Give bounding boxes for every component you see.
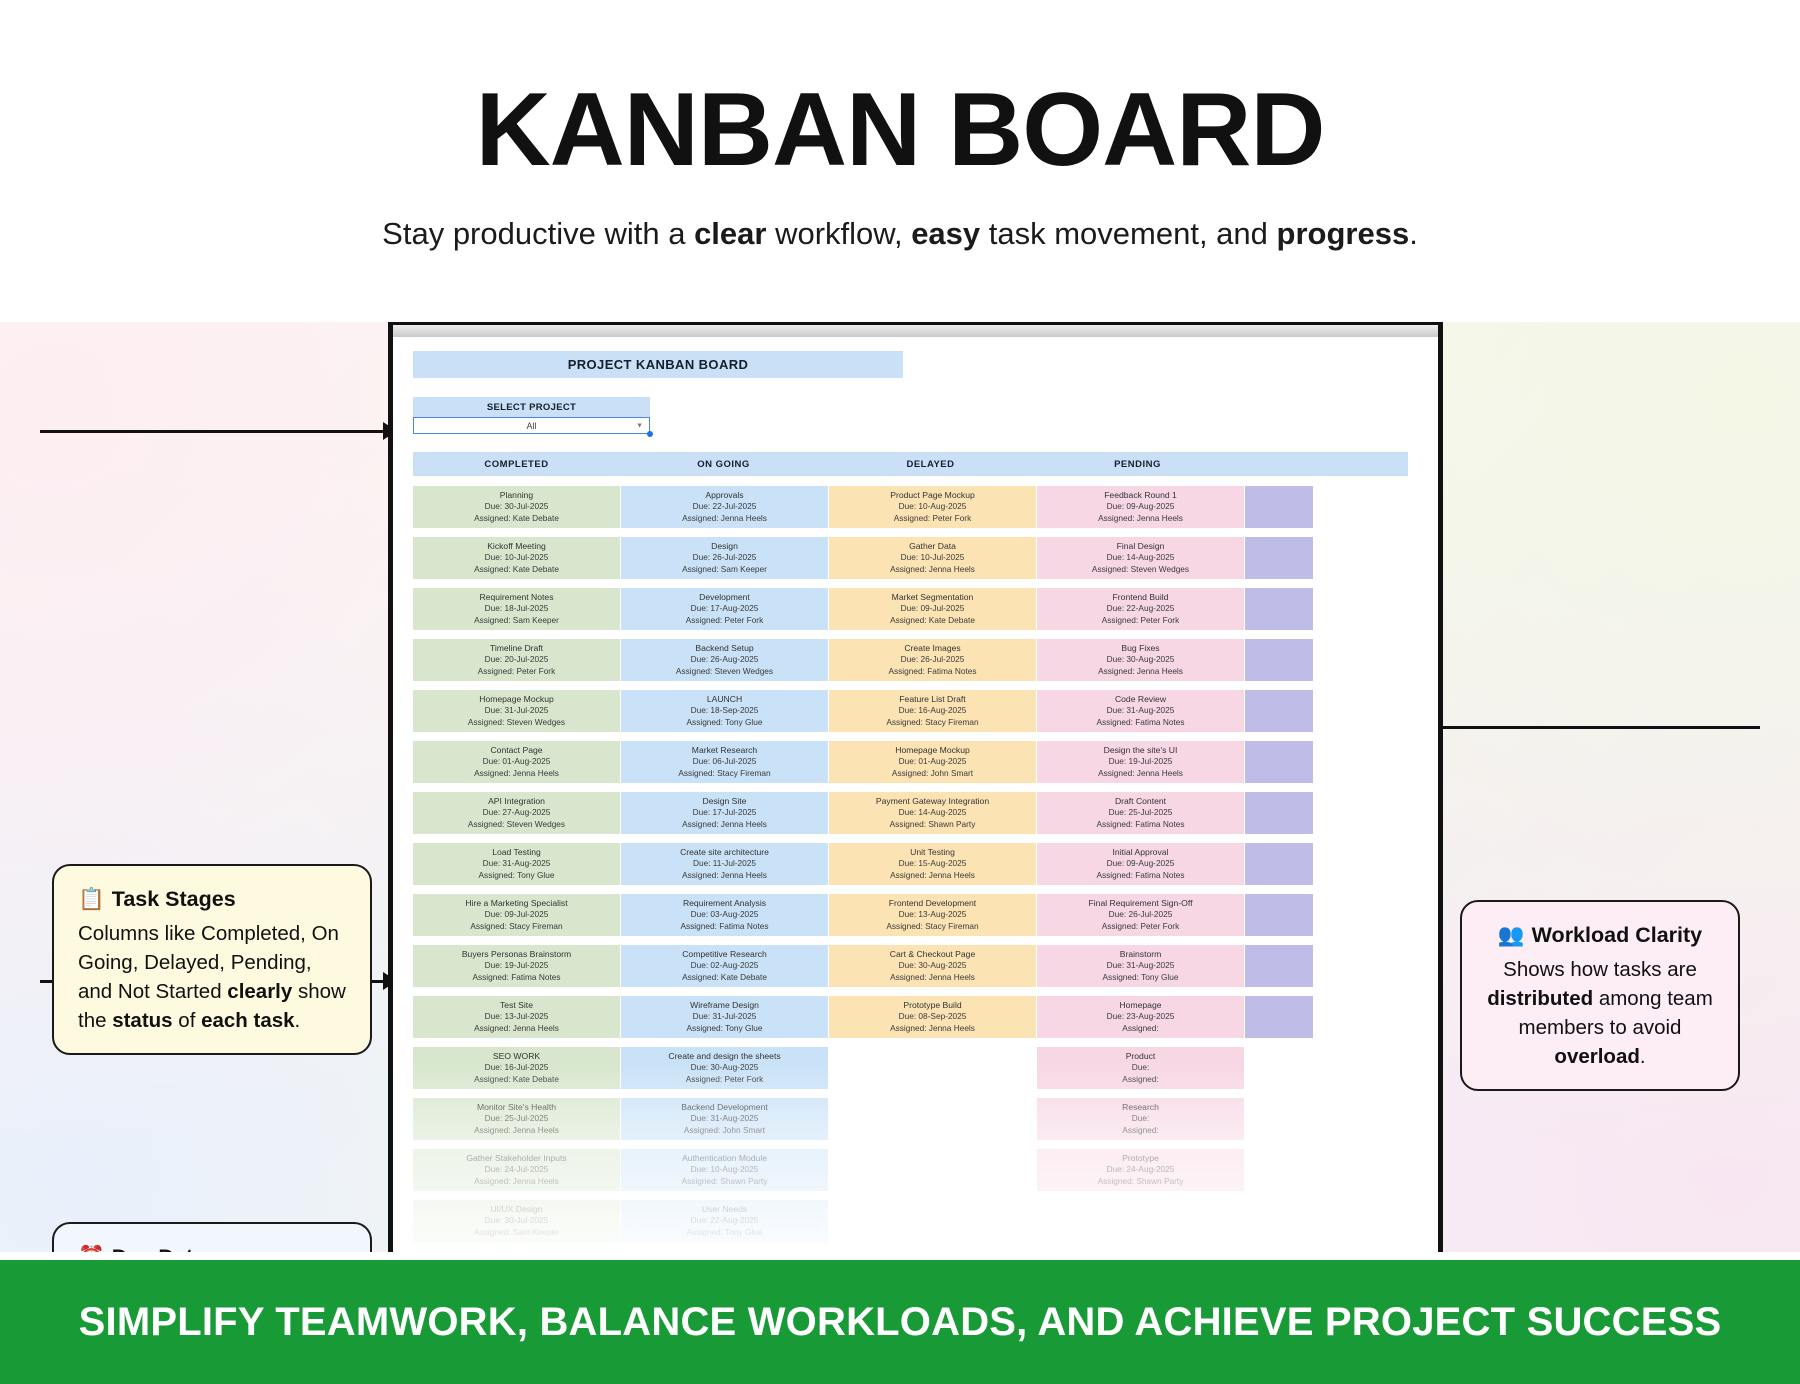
callout-task-stages-title: 📋 Task Stages	[78, 884, 346, 915]
task-assignee: Assigned: Jenna Heels	[890, 1023, 975, 1035]
task-assignee: Assigned: Tony Glue	[687, 1227, 763, 1239]
board-column-headers: COMPLETED ON GOING DELAYED PENDING	[413, 452, 1408, 476]
task-assignee: Assigned: Stacy Fireman	[886, 921, 978, 933]
task-name: Development	[699, 591, 750, 603]
task-assignee: Assigned: Shawn Party	[682, 1176, 768, 1188]
task-card-completed[interactable]: Contact PageDue: 01-Aug-2025Assigned: Je…	[413, 741, 620, 783]
task-name: Cart & Checkout Page	[890, 948, 976, 960]
task-assignee: Assigned: Peter Fork	[894, 513, 971, 525]
task-due-date: Due: 26-Jul-2025	[901, 654, 965, 666]
task-due-date: Due: 31-Aug-2025	[1107, 960, 1175, 972]
column-header-ongoing: ON GOING	[620, 452, 827, 476]
kanban-row: Load TestingDue: 31-Aug-2025Assigned: To…	[413, 843, 1408, 894]
task-name: Design	[711, 540, 738, 552]
task-card-pending[interactable]: Code ReviewDue: 31-Aug-2025Assigned: Fat…	[1037, 690, 1244, 732]
task-due-date: Due: 10-Aug-2025	[899, 501, 967, 513]
arrow-line-task-stages	[40, 430, 385, 433]
task-due-date: Due: 31-Jul-2025	[693, 1011, 757, 1023]
showcase-band: PROJECT KANBAN BOARD SELECT PROJECT All …	[0, 322, 1800, 1252]
task-assignee: Assigned: Peter Fork	[1102, 921, 1179, 933]
task-assignee: Assigned: Steven Wedges	[468, 819, 565, 831]
task-name: Create Images	[904, 642, 960, 654]
task-name: Kickoff Meeting	[487, 540, 546, 552]
task-card-not-started[interactable]	[1245, 1149, 1313, 1191]
task-assignee: Assigned:	[1122, 1074, 1158, 1086]
kanban-row: Timeline DraftDue: 20-Jul-2025Assigned: …	[413, 639, 1408, 690]
task-due-date: Due: 27-Aug-2025	[483, 807, 551, 819]
subtitle-emph-clear: clear	[694, 216, 766, 251]
kanban-board-grid: PlanningDue: 30-Jul-2025Assigned: Kate D…	[413, 486, 1408, 1251]
kanban-row: Contact PageDue: 01-Aug-2025Assigned: Je…	[413, 741, 1408, 792]
task-assignee: Assigned: Fatima Notes	[472, 972, 560, 984]
footer-text: SIMPLIFY TEAMWORK, BALANCE WORKLOADS, AN…	[79, 1300, 1722, 1345]
task-card-pending[interactable]: PrototypeDue: 24-Aug-2025Assigned: Shawn…	[1037, 1149, 1244, 1191]
task-assignee: Assigned: Jenna Heels	[682, 819, 767, 831]
column-header-delayed: DELAYED	[827, 452, 1034, 476]
task-card-not-started[interactable]	[1245, 1098, 1313, 1140]
task-due-date: Due: 09-Jul-2025	[485, 909, 549, 921]
task-name: Test Site	[500, 999, 533, 1011]
task-assignee: Assigned: Shawn Party	[1098, 1176, 1184, 1188]
task-assignee: Assigned: Fatima Notes	[1096, 717, 1184, 729]
task-name: Market Research	[692, 744, 757, 756]
task-assignee: Assigned: Kate Debate	[682, 972, 767, 984]
task-due-date: Due: 15-Aug-2025	[899, 858, 967, 870]
task-card-pending[interactable]: ResearchDue:Assigned:	[1037, 1098, 1244, 1140]
task-name: Final Requirement Sign-Off	[1089, 897, 1193, 909]
task-name: Planning	[500, 489, 533, 501]
kanban-row: Hire a Marketing SpecialistDue: 09-Jul-2…	[413, 894, 1408, 945]
task-assignee: Assigned: Fatima Notes	[1096, 819, 1184, 831]
task-card-ongoing[interactable]: DevelopmentDue: 17-Aug-2025Assigned: Pet…	[621, 588, 828, 630]
task-due-date: Due: 31-Jul-2025	[485, 705, 549, 717]
task-due-date: Due: 02-Aug-2025	[691, 960, 759, 972]
task-assignee: Assigned: Jenna Heels	[890, 870, 975, 882]
task-assignee: Assigned: Stacy Fireman	[886, 717, 978, 729]
task-due-date: Due: 19-Jul-2025	[1109, 756, 1173, 768]
task-due-date: Due: 18-Jul-2025	[485, 603, 549, 615]
kanban-row: Test SiteDue: 13-Jul-2025Assigned: Jenna…	[413, 996, 1408, 1047]
task-name: Code Review	[1115, 693, 1166, 705]
task-assignee: Assigned: Kate Debate	[474, 1074, 559, 1086]
subtitle-emph-progress: progress	[1277, 216, 1410, 251]
column-header-pending: PENDING	[1034, 452, 1241, 476]
task-card-completed[interactable]: Kickoff MeetingDue: 10-Jul-2025Assigned:…	[413, 537, 620, 579]
task-card-not-started[interactable]	[1245, 1047, 1313, 1089]
task-name: Load Testing	[492, 846, 541, 858]
task-name: Unit Testing	[910, 846, 955, 858]
task-name: Backend Setup	[695, 642, 753, 654]
task-due-date: Due: 22-Jul-2025	[693, 501, 757, 513]
alarm-clock-icon: ⏰	[78, 1242, 105, 1252]
task-due-date: Due: 06-Jul-2025	[693, 756, 757, 768]
sheet-title: PROJECT KANBAN BOARD	[413, 351, 903, 378]
task-card-not-started[interactable]	[1245, 945, 1313, 987]
task-card-completed[interactable]: Monitor Site's HealthDue: 25-Jul-2025Ass…	[413, 1098, 620, 1140]
task-card-ongoing[interactable]: Backend DevelopmentDue: 31-Aug-2025Assig…	[621, 1098, 828, 1140]
kanban-row: PlanningDue: 30-Jul-2025Assigned: Kate D…	[413, 486, 1408, 537]
task-name: Design the site's UI	[1104, 744, 1178, 756]
task-card-pending[interactable]: Feedback Round 1Due: 09-Aug-2025Assigned…	[1037, 486, 1244, 528]
task-due-date: Due: 19-Jul-2025	[485, 960, 549, 972]
task-due-date: Due: 31-Aug-2025	[1107, 705, 1175, 717]
task-name: Prototype	[1122, 1152, 1159, 1164]
subtitle-part-3: task movement, and	[980, 216, 1276, 251]
task-card-pending[interactable]: BrainstormDue: 31-Aug-2025Assigned: Tony…	[1037, 945, 1244, 987]
spreadsheet-screenshot: PROJECT KANBAN BOARD SELECT PROJECT All …	[388, 322, 1443, 1252]
task-card-completed[interactable]: Hire a Marketing SpecialistDue: 09-Jul-2…	[413, 894, 620, 936]
task-card-pending[interactable]: Final DesignDue: 14-Aug-2025Assigned: St…	[1037, 537, 1244, 579]
task-due-date: Due: 31-Aug-2025	[691, 1113, 759, 1125]
task-due-date: Due: 01-Aug-2025	[899, 756, 967, 768]
task-due-date: Due: 17-Aug-2025	[691, 603, 759, 615]
task-name: Prototype Build	[903, 999, 961, 1011]
task-card-completed[interactable]: Buyers Personas BrainstormDue: 19-Jul-20…	[413, 945, 620, 987]
task-card-not-started[interactable]	[1245, 1200, 1313, 1242]
task-assignee: Assigned: Peter Fork	[686, 1074, 763, 1086]
task-card-completed[interactable]: Test SiteDue: 13-Jul-2025Assigned: Jenna…	[413, 996, 620, 1038]
task-card-ongoing[interactable]: Competitive ResearchDue: 02-Aug-2025Assi…	[621, 945, 828, 987]
column-header-completed: COMPLETED	[413, 452, 620, 476]
task-name: Frontend Build	[1113, 591, 1169, 603]
task-assignee: Assigned: Steven Wedges	[676, 666, 773, 678]
task-assignee: Assigned: Steven Wedges	[1092, 564, 1189, 576]
task-assignee: Assigned: Steven Wedges	[468, 717, 565, 729]
task-name: Requirement Analysis	[683, 897, 766, 909]
task-card-pending[interactable]: ProductDue:Assigned:	[1037, 1047, 1244, 1089]
task-name: Authentication Module	[682, 1152, 767, 1164]
task-name: Create and design the sheets	[668, 1050, 780, 1062]
task-due-date: Due: 31-Aug-2025	[483, 858, 551, 870]
kanban-row: UI/UX DesignDue: 30-Jul-2025Assigned: Sa…	[413, 1200, 1408, 1251]
task-assignee: Assigned: Jenna Heels	[1098, 666, 1183, 678]
task-card-not-started[interactable]	[1245, 588, 1313, 630]
task-name: Market Segmentation	[892, 591, 974, 603]
task-card-pending[interactable]: Draft ContentDue: 25-Jul-2025Assigned: F…	[1037, 792, 1244, 834]
task-due-date: Due: 13-Jul-2025	[485, 1011, 549, 1023]
task-due-date: Due: 09-Aug-2025	[1107, 501, 1175, 513]
task-card-pending[interactable]: Initial ApprovalDue: 09-Aug-2025Assigned…	[1037, 843, 1244, 885]
task-due-date: Due: 23-Aug-2025	[1107, 1011, 1175, 1023]
task-due-date: Due: 26-Jul-2025	[1109, 909, 1173, 921]
clipboard-icon: 📋	[78, 884, 105, 915]
task-assignee: Assigned: Fatima Notes	[680, 921, 768, 933]
task-due-date: Due: 26-Jul-2025	[693, 552, 757, 564]
task-name: Frontend Development	[889, 897, 976, 909]
task-name: Brainstorm	[1120, 948, 1162, 960]
page-header: KANBAN BOARD Stay productive with a clea…	[0, 0, 1800, 322]
subtitle-emph-easy: easy	[911, 216, 980, 251]
task-due-date: Due: 18-Sep-2025	[691, 705, 759, 717]
task-card-delayed[interactable]: Gather DataDue: 10-Jul-2025Assigned: Jen…	[829, 537, 1036, 579]
column-header-spacer	[1241, 452, 1408, 476]
task-name: Payment Gateway Integration	[876, 795, 989, 807]
kanban-row: SEO WORKDue: 16-Jul-2025Assigned: Kate D…	[413, 1047, 1408, 1098]
task-card-completed[interactable]: UI/UX DesignDue: 30-Jul-2025Assigned: Sa…	[413, 1200, 620, 1242]
task-assignee: Assigned: Peter Fork	[1102, 615, 1179, 627]
task-card-ongoing[interactable]: Backend SetupDue: 26-Aug-2025Assigned: S…	[621, 639, 828, 681]
task-name: Timeline Draft	[490, 642, 543, 654]
task-card-completed[interactable]: PlanningDue: 30-Jul-2025Assigned: Kate D…	[413, 486, 620, 528]
task-card-not-started[interactable]	[1245, 486, 1313, 528]
task-assignee: Assigned: Jenna Heels	[474, 1176, 559, 1188]
task-due-date: Due: 13-Aug-2025	[899, 909, 967, 921]
task-assignee: Assigned: Jenna Heels	[890, 564, 975, 576]
task-card-pending[interactable]: Design the site's UIDue: 19-Jul-2025Assi…	[1037, 741, 1244, 783]
task-due-date: Due: 30-Aug-2025	[899, 960, 967, 972]
task-due-date: Due: 14-Aug-2025	[899, 807, 967, 819]
task-assignee: Assigned: Jenna Heels	[682, 870, 767, 882]
task-assignee: Assigned: Tony Glue	[1103, 972, 1179, 984]
task-card-ongoing[interactable]: User NeedsDue: 22-Aug-2025Assigned: Tony…	[621, 1200, 828, 1242]
kanban-row: Homepage MockupDue: 31-Jul-2025Assigned:…	[413, 690, 1408, 741]
task-due-date: Due: 24-Aug-2025	[1107, 1164, 1175, 1176]
task-assignee: Assigned: Sam Keeper	[474, 615, 559, 627]
task-assignee: Assigned: Fatima Notes	[888, 666, 976, 678]
task-due-date: Due: 03-Aug-2025	[691, 909, 759, 921]
task-assignee: Assigned: Stacy Fireman	[678, 768, 770, 780]
task-card-delayed[interactable]: Homepage MockupDue: 01-Aug-2025Assigned:…	[829, 741, 1036, 783]
task-card-delayed[interactable]: Feature List DraftDue: 16-Aug-2025Assign…	[829, 690, 1036, 732]
task-name: Competitive Research	[682, 948, 767, 960]
task-card-not-started[interactable]	[1245, 639, 1313, 681]
task-card-not-started[interactable]	[1245, 537, 1313, 579]
cell-fill-handle[interactable]	[647, 431, 653, 437]
task-due-date: Due: 24-Jul-2025	[485, 1164, 549, 1176]
task-name: SEO WORK	[493, 1050, 540, 1062]
task-card-delayed[interactable]: Unit TestingDue: 15-Aug-2025Assigned: Je…	[829, 843, 1036, 885]
task-assignee: Assigned: Kate Debate	[474, 513, 559, 525]
task-card-not-started[interactable]	[1245, 690, 1313, 732]
screen-topbar	[393, 325, 1438, 337]
task-card-delayed[interactable]: Frontend DevelopmentDue: 13-Aug-2025Assi…	[829, 894, 1036, 936]
sheet-canvas: PROJECT KANBAN BOARD SELECT PROJECT All …	[393, 337, 1438, 1251]
task-due-date: Due: 10-Jul-2025	[485, 552, 549, 564]
task-name: Create site architecture	[680, 846, 769, 858]
subtitle-part-1: Stay productive with a	[382, 216, 694, 251]
task-card-not-started[interactable]	[1245, 843, 1313, 885]
task-assignee: Assigned: Sam Keeper	[474, 1227, 559, 1239]
task-card-ongoing[interactable]: ApprovalsDue: 22-Jul-2025Assigned: Jenna…	[621, 486, 828, 528]
page-subtitle: Stay productive with a clear workflow, e…	[0, 216, 1800, 252]
task-assignee: Assigned: Jenna Heels	[682, 513, 767, 525]
task-name: Feedback Round 1	[1104, 489, 1177, 501]
task-due-date: Due:	[1132, 1113, 1150, 1125]
task-name: Bug Fixes	[1121, 642, 1159, 654]
callout-task-stages-title-text: Task Stages	[112, 884, 236, 915]
task-assignee: Assigned: Jenna Heels	[474, 1125, 559, 1137]
task-assignee: Assigned: Jenna Heels	[890, 972, 975, 984]
task-name: Homepage Mockup	[895, 744, 970, 756]
task-due-date: Due: 25-Jul-2025	[1109, 807, 1173, 819]
task-name: Contact Page	[490, 744, 542, 756]
kanban-row: Gather Stakeholder InputsDue: 24-Jul-202…	[413, 1149, 1408, 1200]
task-name: User Needs	[702, 1203, 747, 1215]
task-card-ongoing[interactable]: Authentication ModuleDue: 10-Aug-2025Ass…	[621, 1149, 828, 1191]
task-card-ongoing[interactable]: LAUNCHDue: 18-Sep-2025Assigned: Tony Glu…	[621, 690, 828, 732]
task-card-pending[interactable]: HomepageDue: 23-Aug-2025Assigned:	[1037, 996, 1244, 1038]
task-name: Buyers Personas Brainstorm	[462, 948, 571, 960]
task-card-pending[interactable]	[1037, 1200, 1244, 1242]
task-name: LAUNCH	[707, 693, 742, 705]
task-card-ongoing[interactable]: Requirement AnalysisDue: 03-Aug-2025Assi…	[621, 894, 828, 936]
task-assignee: Assigned: Kate Debate	[890, 615, 975, 627]
task-card-not-started[interactable]	[1245, 996, 1313, 1038]
subtitle-part-2: workflow,	[766, 216, 911, 251]
task-assignee: Assigned: Kate Debate	[474, 564, 559, 576]
callout-workload-body: Shows how tasks are distributed among te…	[1486, 955, 1714, 1071]
task-name: Feature List Draft	[899, 693, 965, 705]
task-assignee: Assigned: John Smart	[892, 768, 973, 780]
task-assignee: Assigned: Sam Keeper	[682, 564, 767, 576]
task-name: API Integration	[488, 795, 545, 807]
task-due-date: Due: 10-Jul-2025	[901, 552, 965, 564]
callout-task-stages-body: Columns like Completed, On Going, Delaye…	[78, 919, 346, 1035]
task-due-date: Due: 01-Aug-2025	[483, 756, 551, 768]
task-card-completed[interactable]: Homepage MockupDue: 31-Jul-2025Assigned:…	[413, 690, 620, 732]
task-card-ongoing[interactable]: Market ResearchDue: 06-Jul-2025Assigned:…	[621, 741, 828, 783]
task-name: Gather Stakeholder Inputs	[466, 1152, 566, 1164]
task-name: Approvals	[705, 489, 743, 501]
task-due-date: Due: 22-Aug-2025	[1107, 603, 1175, 615]
callout-due-dates-title: ⏰ Due Dates	[78, 1242, 346, 1252]
task-name: Initial Approval	[1113, 846, 1169, 858]
task-assignee: Assigned: Peter Fork	[686, 615, 763, 627]
callout-due-dates-title-text: Due Dates	[112, 1242, 217, 1252]
task-due-date: Due: 09-Jul-2025	[901, 603, 965, 615]
task-name: Research	[1122, 1101, 1159, 1113]
task-due-date: Due: 30-Aug-2025	[1107, 654, 1175, 666]
task-due-date: Due: 30-Aug-2025	[691, 1062, 759, 1074]
task-card-completed[interactable]: Requirement NotesDue: 18-Jul-2025Assigne…	[413, 588, 620, 630]
task-card-ongoing[interactable]: Design SiteDue: 17-Jul-2025Assigned: Jen…	[621, 792, 828, 834]
task-name: Hire a Marketing Specialist	[465, 897, 567, 909]
task-due-date: Due: 30-Jul-2025	[485, 1215, 549, 1227]
task-assignee: Assigned: Jenna Heels	[1098, 768, 1183, 780]
task-assignee: Assigned:	[1122, 1125, 1158, 1137]
task-card-completed[interactable]: Timeline DraftDue: 20-Jul-2025Assigned: …	[413, 639, 620, 681]
kanban-row: Kickoff MeetingDue: 10-Jul-2025Assigned:…	[413, 537, 1408, 588]
task-due-date: Due: 20-Jul-2025	[485, 654, 549, 666]
task-name: Homepage Mockup	[479, 693, 554, 705]
task-due-date: Due: 26-Aug-2025	[691, 654, 759, 666]
task-card-pending[interactable]: Frontend BuildDue: 22-Aug-2025Assigned: …	[1037, 588, 1244, 630]
task-name: Design Site	[703, 795, 747, 807]
task-name: Product	[1126, 1050, 1156, 1062]
chevron-down-icon: ▼	[636, 422, 643, 429]
task-assignee: Assigned: Tony Glue	[687, 1023, 763, 1035]
task-due-date: Due: 30-Jul-2025	[485, 501, 549, 513]
task-due-date: Due: 16-Jul-2025	[485, 1062, 549, 1074]
task-name: Monitor Site's Health	[477, 1101, 556, 1113]
task-due-date: Due: 14-Aug-2025	[1107, 552, 1175, 564]
arrow-line-workload	[1415, 726, 1760, 729]
callout-task-stages: 📋 Task Stages Columns like Completed, On…	[52, 864, 372, 1055]
task-card-delayed[interactable]: Cart & Checkout PageDue: 30-Aug-2025Assi…	[829, 945, 1036, 987]
kanban-row: Requirement NotesDue: 18-Jul-2025Assigne…	[413, 588, 1408, 639]
task-name: Product Page Mockup	[890, 489, 975, 501]
callout-workload-clarity: 👥 Workload Clarity Shows how tasks are d…	[1460, 900, 1740, 1091]
kanban-row: Monitor Site's HealthDue: 25-Jul-2025Ass…	[413, 1098, 1408, 1149]
select-project-dropdown[interactable]: All ▼	[413, 417, 650, 434]
task-card-delayed[interactable]: Prototype BuildDue: 08-Sep-2025Assigned:…	[829, 996, 1036, 1038]
task-name: Gather Data	[909, 540, 956, 552]
callout-workload-title: 👥 Workload Clarity	[1486, 920, 1714, 951]
task-name: Final Design	[1117, 540, 1165, 552]
subtitle-part-4: .	[1409, 216, 1418, 251]
task-due-date: Due: 08-Sep-2025	[899, 1011, 967, 1023]
task-assignee: Assigned: Jenna Heels	[474, 768, 559, 780]
task-card-pending[interactable]: Bug FixesDue: 30-Aug-2025Assigned: Jenna…	[1037, 639, 1244, 681]
task-card-completed[interactable]: API IntegrationDue: 27-Aug-2025Assigned:…	[413, 792, 620, 834]
task-due-date: Due: 17-Jul-2025	[693, 807, 757, 819]
callout-due-dates: ⏰ Due Dates Each task is tied to a deadl…	[52, 1222, 372, 1252]
task-card-completed[interactable]: Gather Stakeholder InputsDue: 24-Jul-202…	[413, 1149, 620, 1191]
task-assignee: Assigned: John Smart	[684, 1125, 765, 1137]
task-name: Draft Content	[1115, 795, 1166, 807]
task-card-ongoing[interactable]: Create and design the sheetsDue: 30-Aug-…	[621, 1047, 828, 1089]
task-card-delayed[interactable]	[829, 1047, 1036, 1089]
task-card-not-started[interactable]	[1245, 894, 1313, 936]
task-card-pending[interactable]: Final Requirement Sign-OffDue: 26-Jul-20…	[1037, 894, 1244, 936]
task-name: Backend Development	[681, 1101, 767, 1113]
task-name: UI/UX Design	[490, 1203, 542, 1215]
task-card-ongoing[interactable]: Wireframe DesignDue: 31-Jul-2025Assigned…	[621, 996, 828, 1038]
task-due-date: Due: 25-Jul-2025	[485, 1113, 549, 1125]
task-card-delayed[interactable]: Market SegmentationDue: 09-Jul-2025Assig…	[829, 588, 1036, 630]
task-card-delayed[interactable]	[829, 1098, 1036, 1140]
task-card-completed[interactable]: Load TestingDue: 31-Aug-2025Assigned: To…	[413, 843, 620, 885]
task-due-date: Due: 11-Jul-2025	[693, 858, 756, 870]
task-card-delayed[interactable]: Create ImagesDue: 26-Jul-2025Assigned: F…	[829, 639, 1036, 681]
task-assignee: Assigned: Tony Glue	[687, 717, 763, 729]
task-due-date: Due: 10-Aug-2025	[691, 1164, 759, 1176]
task-due-date: Due: 22-Aug-2025	[691, 1215, 759, 1227]
page-title: KANBAN BOARD	[0, 0, 1800, 182]
kanban-row: Buyers Personas BrainstormDue: 19-Jul-20…	[413, 945, 1408, 996]
page-footer: SIMPLIFY TEAMWORK, BALANCE WORKLOADS, AN…	[0, 1260, 1800, 1384]
task-card-delayed[interactable]	[829, 1200, 1036, 1242]
task-due-date: Due: 16-Aug-2025	[899, 705, 967, 717]
task-due-date: Due:	[1132, 1062, 1150, 1074]
task-name: Requirement Notes	[479, 591, 553, 603]
task-card-not-started[interactable]	[1245, 741, 1313, 783]
task-assignee: Assigned:	[1122, 1023, 1158, 1035]
task-card-delayed[interactable]: Product Page MockupDue: 10-Aug-2025Assig…	[829, 486, 1036, 528]
task-assignee: Assigned: Jenna Heels	[1098, 513, 1183, 525]
task-card-completed[interactable]: SEO WORKDue: 16-Jul-2025Assigned: Kate D…	[413, 1047, 620, 1089]
people-icon: 👥	[1498, 920, 1525, 951]
task-card-not-started[interactable]	[1245, 792, 1313, 834]
select-project-value: All	[526, 421, 536, 431]
callout-workload-title-text: Workload Clarity	[1532, 920, 1702, 951]
select-project-label: SELECT PROJECT	[413, 397, 650, 417]
task-due-date: Due: 09-Aug-2025	[1107, 858, 1175, 870]
task-name: Wireframe Design	[690, 999, 759, 1011]
screen-frame: PROJECT KANBAN BOARD SELECT PROJECT All …	[388, 322, 1443, 1252]
task-assignee: Assigned: Jenna Heels	[474, 1023, 559, 1035]
task-card-ongoing[interactable]: DesignDue: 26-Jul-2025Assigned: Sam Keep…	[621, 537, 828, 579]
task-card-delayed[interactable]	[829, 1149, 1036, 1191]
task-name: Homepage	[1119, 999, 1161, 1011]
task-card-delayed[interactable]: Payment Gateway IntegrationDue: 14-Aug-2…	[829, 792, 1036, 834]
task-assignee: Assigned: Fatima Notes	[1096, 870, 1184, 882]
task-assignee: Assigned: Stacy Fireman	[470, 921, 562, 933]
task-card-ongoing[interactable]: Create site architectureDue: 11-Jul-2025…	[621, 843, 828, 885]
task-assignee: Assigned: Peter Fork	[478, 666, 555, 678]
task-assignee: Assigned: Shawn Party	[890, 819, 976, 831]
kanban-row: API IntegrationDue: 27-Aug-2025Assigned:…	[413, 792, 1408, 843]
